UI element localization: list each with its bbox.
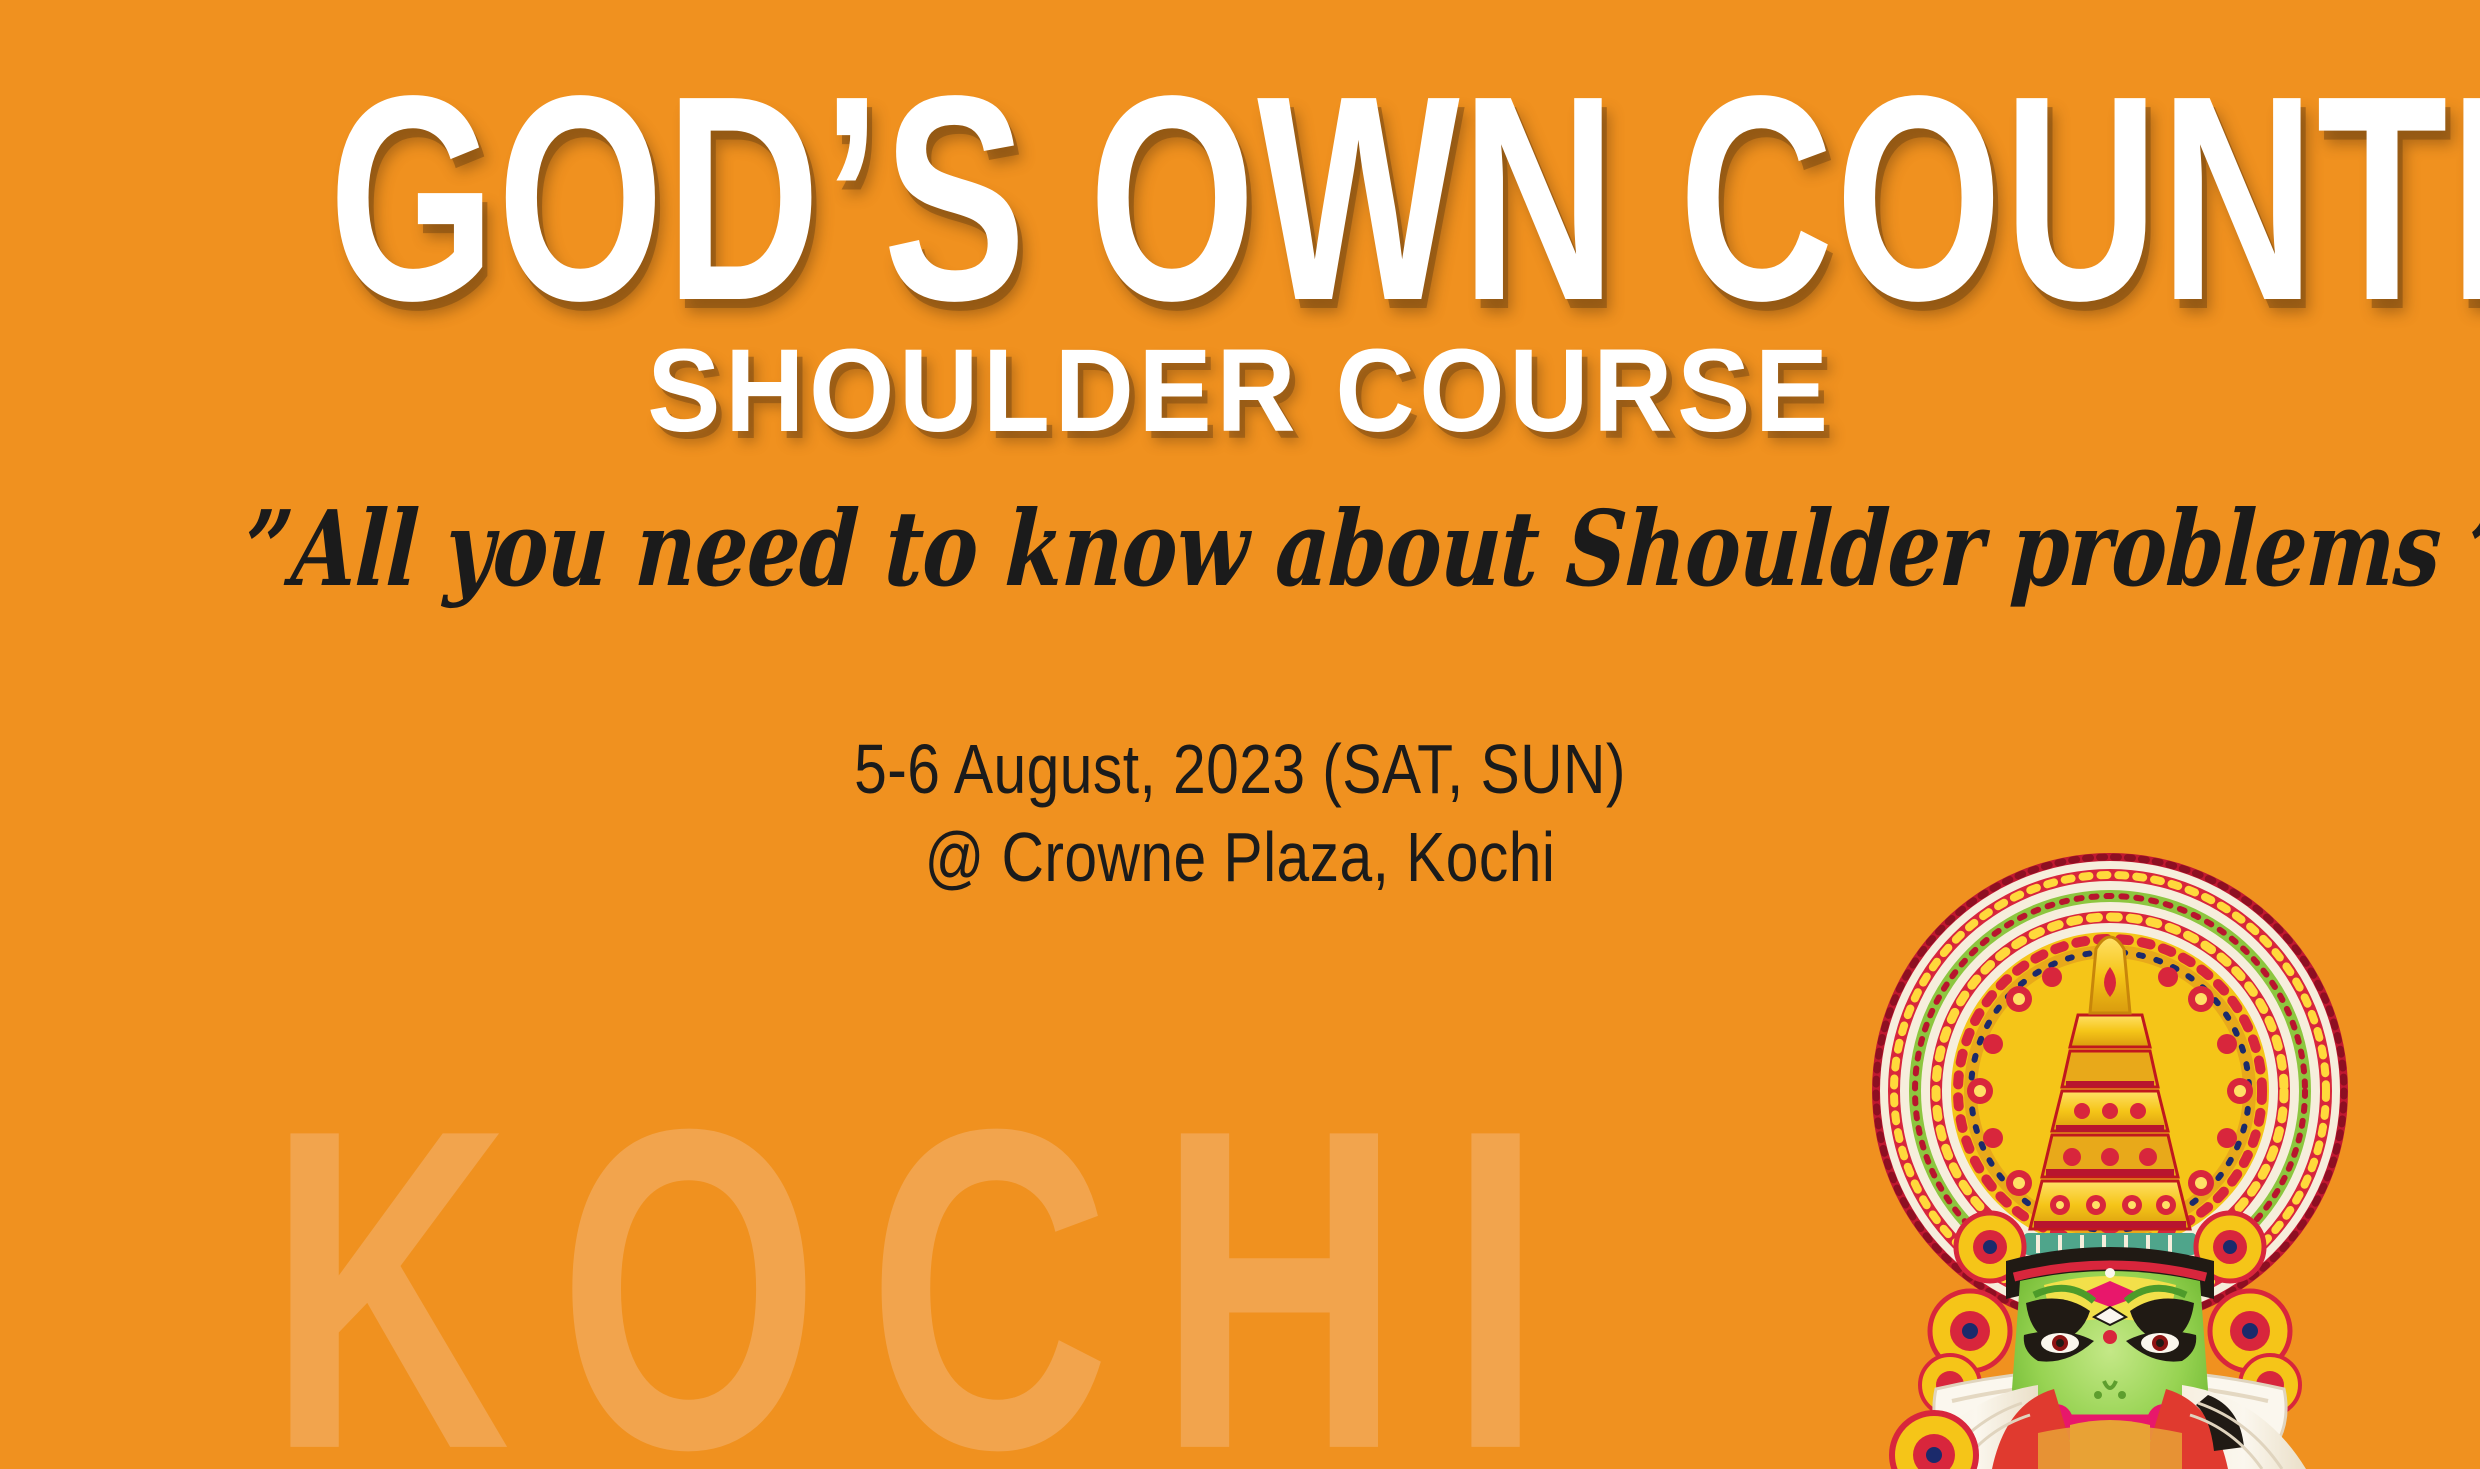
page-subtitle: SHOULDER COURSE [87,332,2393,450]
kochi-watermark: KOCHI [268,1095,1591,1469]
tagline: ”All you need to know about Shoulder pro… [242,497,2232,601]
kathakali-dancer-image [1738,829,2480,1469]
poster-canvas: KOCHI GOD’S OWN COUNTRY SHOULDER COURSE … [0,0,2480,1469]
event-date: 5-6 August, 2023 (SAT, SUN) [198,725,2281,813]
page-title: GOD’S OWN COUNTRY [329,52,2152,344]
shoulder-rosette [1892,1413,1976,1469]
